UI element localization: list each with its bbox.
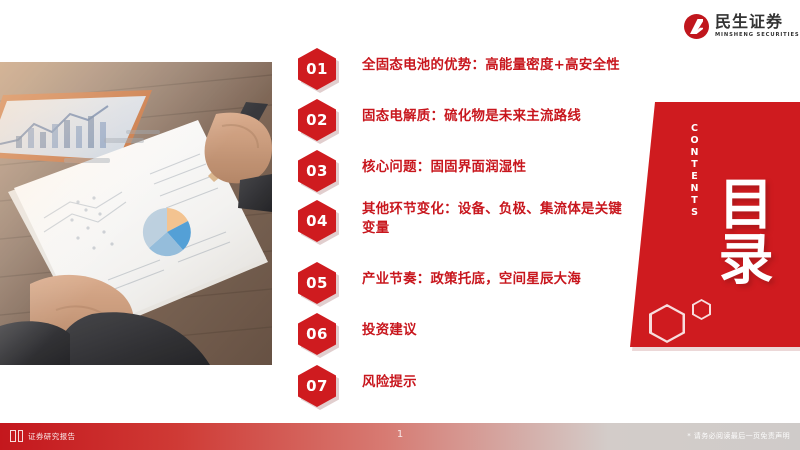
agenda-item-01[interactable]: 01 全固态电池的优势：高能量密度+高安全性 <box>296 46 620 90</box>
agenda-label: 风险提示 <box>362 363 417 392</box>
agenda-label: 核心问题：固固界面润湿性 <box>362 148 526 177</box>
cover-photo-illustration <box>0 62 272 365</box>
logo-english-name: MINSHENG SECURITIES <box>715 33 800 38</box>
agenda-number: 06 <box>306 325 328 343</box>
agenda-label: 投资建议 <box>362 311 417 340</box>
footer-disclaimer: * 请务必阅读最后一页免责声明 <box>687 431 790 441</box>
agenda-item-07[interactable]: 07 风险提示 <box>296 363 417 407</box>
agenda-number: 07 <box>306 377 328 395</box>
cover-photo <box>0 62 272 365</box>
logo-chinese-name: 民生证券 <box>715 14 800 30</box>
hexagon-badge-07: 07 <box>296 363 340 407</box>
hexagon-badge-05: 05 <box>296 260 340 304</box>
page-number: 1 <box>0 429 800 440</box>
agenda-label: 产业节奏：政策托底，空间星辰大海 <box>362 260 581 289</box>
contents-vertical-label: CONTENTS <box>689 123 700 219</box>
agenda-number: 05 <box>306 274 328 292</box>
hexagon-badge-04: 04 <box>296 198 340 242</box>
logo-text-block: 民生证券 MINSHENG SECURITIES <box>715 14 800 38</box>
footer-bar: 证券研究报告 1 * 请务必阅读最后一页免责声明 <box>0 423 800 450</box>
hexagon-badge-03: 03 <box>296 148 340 192</box>
agenda-item-05[interactable]: 05 产业节奏：政策托底，空间星辰大海 <box>296 260 581 304</box>
minsheng-logo-icon <box>684 14 709 39</box>
hexagon-badge-01: 01 <box>296 46 340 90</box>
agenda-item-03[interactable]: 03 核心问题：固固界面润湿性 <box>296 148 526 192</box>
agenda-number: 02 <box>306 111 328 129</box>
slide-contents-page: 民生证券 MINSHENG SECURITIES <box>0 0 800 450</box>
agenda-number: 01 <box>306 60 328 78</box>
agenda-item-02[interactable]: 02 固态电解质：硫化物是未来主流路线 <box>296 97 581 141</box>
agenda-item-04[interactable]: 04 其他环节变化：设备、负极、集流体是关键变量 <box>296 198 630 242</box>
agenda-number: 03 <box>306 162 328 180</box>
agenda-label: 固态电解质：硫化物是未来主流路线 <box>362 97 581 126</box>
contents-title-cn: 目录 <box>714 175 768 285</box>
hexagon-badge-06: 06 <box>296 311 340 355</box>
hexagon-badge-02: 02 <box>296 97 340 141</box>
agenda-label: 其他环节变化：设备、负极、集流体是关键变量 <box>362 198 630 238</box>
agenda-number: 04 <box>306 212 328 230</box>
agenda-label: 全固态电池的优势：高能量密度+高安全性 <box>362 46 620 75</box>
agenda-item-06[interactable]: 06 投资建议 <box>296 311 417 355</box>
company-logo: 民生证券 MINSHENG SECURITIES <box>684 14 800 39</box>
